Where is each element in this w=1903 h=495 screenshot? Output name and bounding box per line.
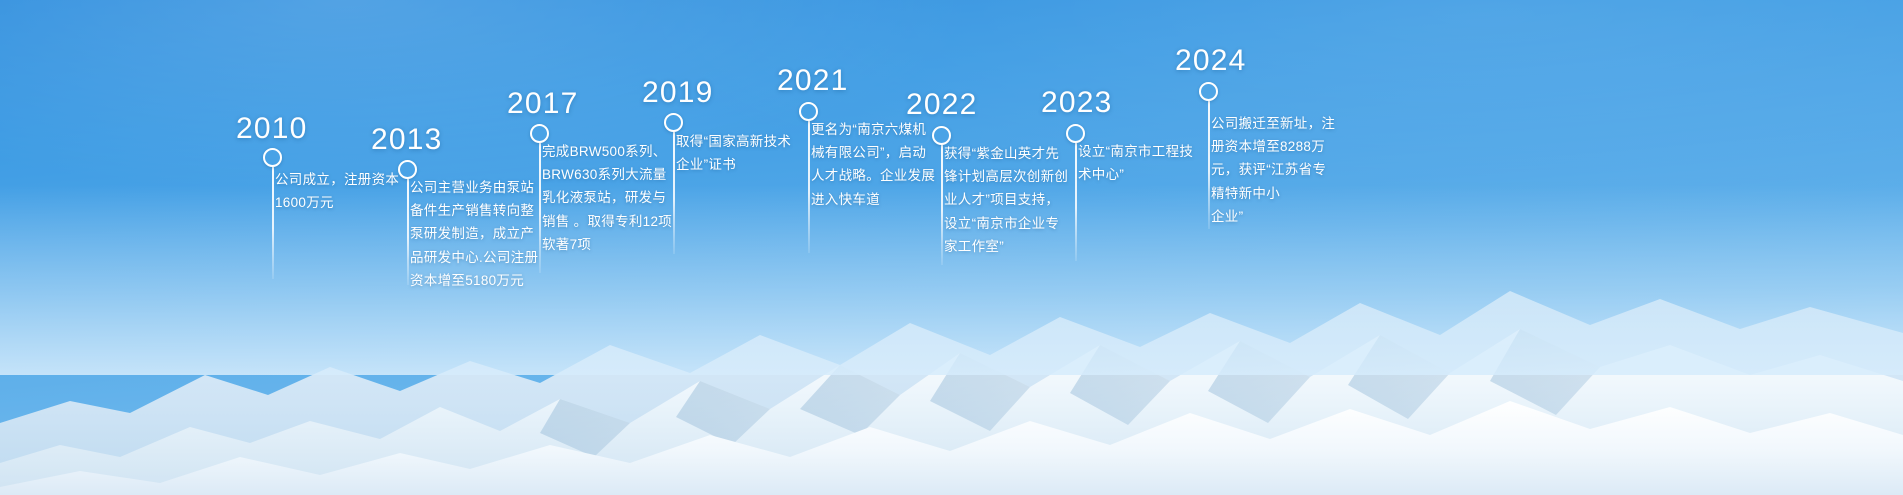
milestone-year-label: 2013 (371, 125, 443, 155)
milestone-stem-line (539, 143, 541, 273)
timeline-infographic: 2010公司成立，注册资本 1600万元2013公司主营业务由泵站 备件生产销售… (0, 0, 1903, 495)
milestone-description: 公司主营业务由泵站 备件生产销售转向整 泵研发制造，成立产 品研发中心.公司注册… (410, 176, 542, 292)
milestone-year-label: 2022 (906, 90, 978, 120)
milestone-stem-line (673, 132, 675, 254)
milestone-description: 取得“国家高新技术 企业”证书 (676, 130, 804, 176)
milestone-description: 设立“南京市工程技 术中心” (1078, 140, 1210, 186)
milestone-year-label: 2017 (507, 89, 579, 119)
milestone-stem-line (941, 145, 943, 265)
milestone-description: 公司搬迁至新址，注 册资本增至8288万 元，获评“江苏省专 精特新中小 企业” (1211, 112, 1349, 228)
milestone-dot-marker[interactable] (263, 148, 282, 167)
milestone-year-label: 2023 (1041, 88, 1113, 118)
milestone-stem-line (407, 179, 409, 285)
milestone-year-label: 2010 (236, 114, 308, 144)
milestone-stem-line (1075, 143, 1077, 261)
milestone-stem-line (808, 121, 810, 253)
milestone-year-label: 2024 (1175, 46, 1247, 76)
milestone-description: 获得“紫金山英才先 锋计划高层次创新创 业人才”项目支持， 设立“南京市企业专 … (944, 142, 1078, 258)
milestone-year-label: 2019 (642, 78, 714, 108)
milestone-stem-line (272, 167, 274, 279)
milestone-description: 更名为“南京六煤机 械有限公司”，启动 人才战略。企业发展 进入快车道 (811, 118, 945, 211)
milestone-stem-line (1208, 101, 1210, 229)
milestone-description: 完成BRW500系列、 BRW630系列大流量 乳化液泵站，研发与 销售 。取得… (542, 140, 682, 256)
milestone-dot-marker[interactable] (1199, 82, 1218, 101)
milestone-year-label: 2021 (777, 66, 849, 96)
milestone-description: 公司成立，注册资本 1600万元 (275, 168, 405, 214)
